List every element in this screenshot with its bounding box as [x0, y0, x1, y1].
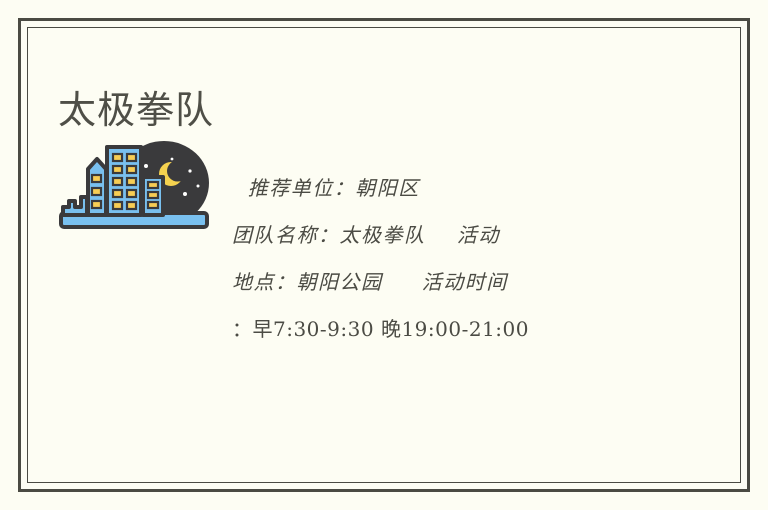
city-night-skyline-icon — [57, 139, 211, 231]
info-line-activity-time: ：早7:30-9:30 晚19:00-21:00 — [232, 306, 662, 353]
info-line-location: 地点：朝阳公园 活动时间 — [232, 259, 662, 306]
page-title: 太极拳队 — [58, 88, 214, 134]
poster-content: 太极拳队 — [0, 0, 768, 510]
poster-page: 太极拳队 — [0, 0, 768, 510]
info-line-team-name: 团队名称：太极拳队 活动 — [232, 212, 662, 259]
team-info-block: 推荐单位：朝阳区 团队名称：太极拳队 活动 地点：朝阳公园 活动时间 ：早7:3… — [232, 165, 662, 353]
info-line-recommend-unit: 推荐单位：朝阳区 — [232, 165, 662, 212]
